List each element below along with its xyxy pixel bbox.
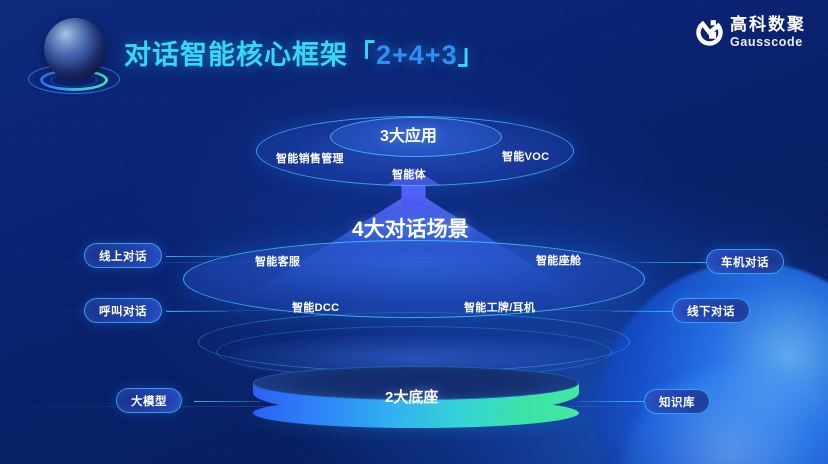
connector-online (166, 256, 228, 257)
tag-offline-dialog[interactable]: 线下对话 (672, 298, 750, 323)
framework-diagram: 3大应用 4大对话场景 2大底座 智能销售管理 智能VOC 智能体 智能客服 智… (0, 0, 828, 464)
tag-large-model-label: 大模型 (131, 393, 167, 409)
connector-offline (612, 311, 674, 312)
top-layer-heading: 3大应用 (380, 122, 437, 146)
tag-call-dialog[interactable]: 呼叫对话 (84, 298, 162, 323)
middle-layer-ring-2 (198, 312, 630, 372)
tag-large-model[interactable]: 大模型 (116, 388, 182, 413)
middle-layer-item-badge: 智能工牌/耳机 (464, 299, 535, 315)
connector-kb (580, 401, 646, 402)
connector-model (194, 401, 260, 402)
middle-layer-heading: 4大对话场景 (352, 213, 469, 243)
tag-online-dialog[interactable]: 线上对话 (84, 243, 162, 268)
top-layer-item-sales: 智能销售管理 (276, 150, 344, 166)
tag-knowledge-base[interactable]: 知识库 (644, 389, 710, 414)
tag-call-dialog-label: 呼叫对话 (99, 303, 147, 319)
tag-online-dialog-label: 线上对话 (99, 248, 147, 264)
tag-invehicle-dialog-label: 车机对话 (721, 254, 769, 270)
middle-layer-item-cockpit: 智能座舱 (536, 252, 581, 268)
middle-layer-item-kefu: 智能客服 (255, 253, 300, 269)
tag-offline-dialog-label: 线下对话 (687, 303, 735, 319)
middle-layer-item-dcc: 智能DCC (292, 299, 339, 315)
tag-knowledge-base-label: 知识库 (659, 394, 695, 410)
connector-call (166, 311, 228, 312)
top-layer-item-agent: 智能体 (392, 166, 426, 182)
base-layer-heading: 2大底座 (385, 386, 438, 407)
tag-invehicle-dialog[interactable]: 车机对话 (706, 249, 784, 274)
connector-car (640, 262, 708, 263)
slide-canvas: 对话智能核心框架「2+4+3」 高科数聚 Gausscode (0, 0, 828, 464)
top-layer-item-voc: 智能VOC (502, 148, 549, 164)
